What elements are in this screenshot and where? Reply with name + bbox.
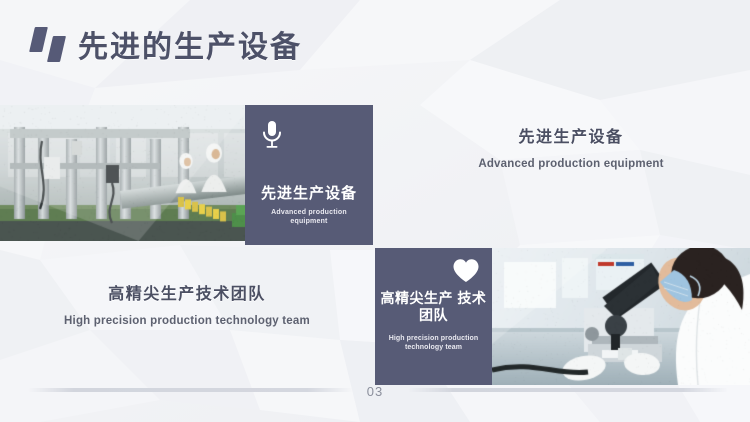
card-team-title: 高精尖生产 技术团队 [375,290,492,323]
card-team[interactable]: 高精尖生产 技术团队 High precision production tec… [375,248,492,385]
text-team-subtitle: High precision production technology tea… [57,314,317,330]
card-equipment-subtitle: Advanced production equipment [245,209,373,226]
text-team-title: 高精尖生产技术团队 [57,285,317,306]
card-team-subtitle: High precision production technology tea… [375,335,492,352]
page-title: 先进的生产设备 [78,22,302,66]
heart-icon [452,258,480,289]
page-number: 03 [0,384,750,399]
text-equipment-subtitle: Advanced production equipment [452,157,690,173]
photo-laboratory [492,248,750,385]
card-equipment-title: 先进生产设备 [245,185,373,203]
slide-header: 先进的生产设备 [0,0,750,88]
dual-parallelogram-logo-icon [30,27,70,63]
text-equipment-title: 先进生产设备 [452,128,690,149]
photo-production-line [0,105,252,241]
text-block-equipment: 先进生产设备 Advanced production equipment [452,128,690,172]
microphone-icon [259,119,285,156]
text-block-team: 高精尖生产技术团队 High precision production tech… [57,285,317,329]
slide: 先进的生产设备 先进生产设备 Advanced production equip… [0,0,750,422]
card-equipment[interactable]: 先进生产设备 Advanced production equipment [245,105,373,245]
